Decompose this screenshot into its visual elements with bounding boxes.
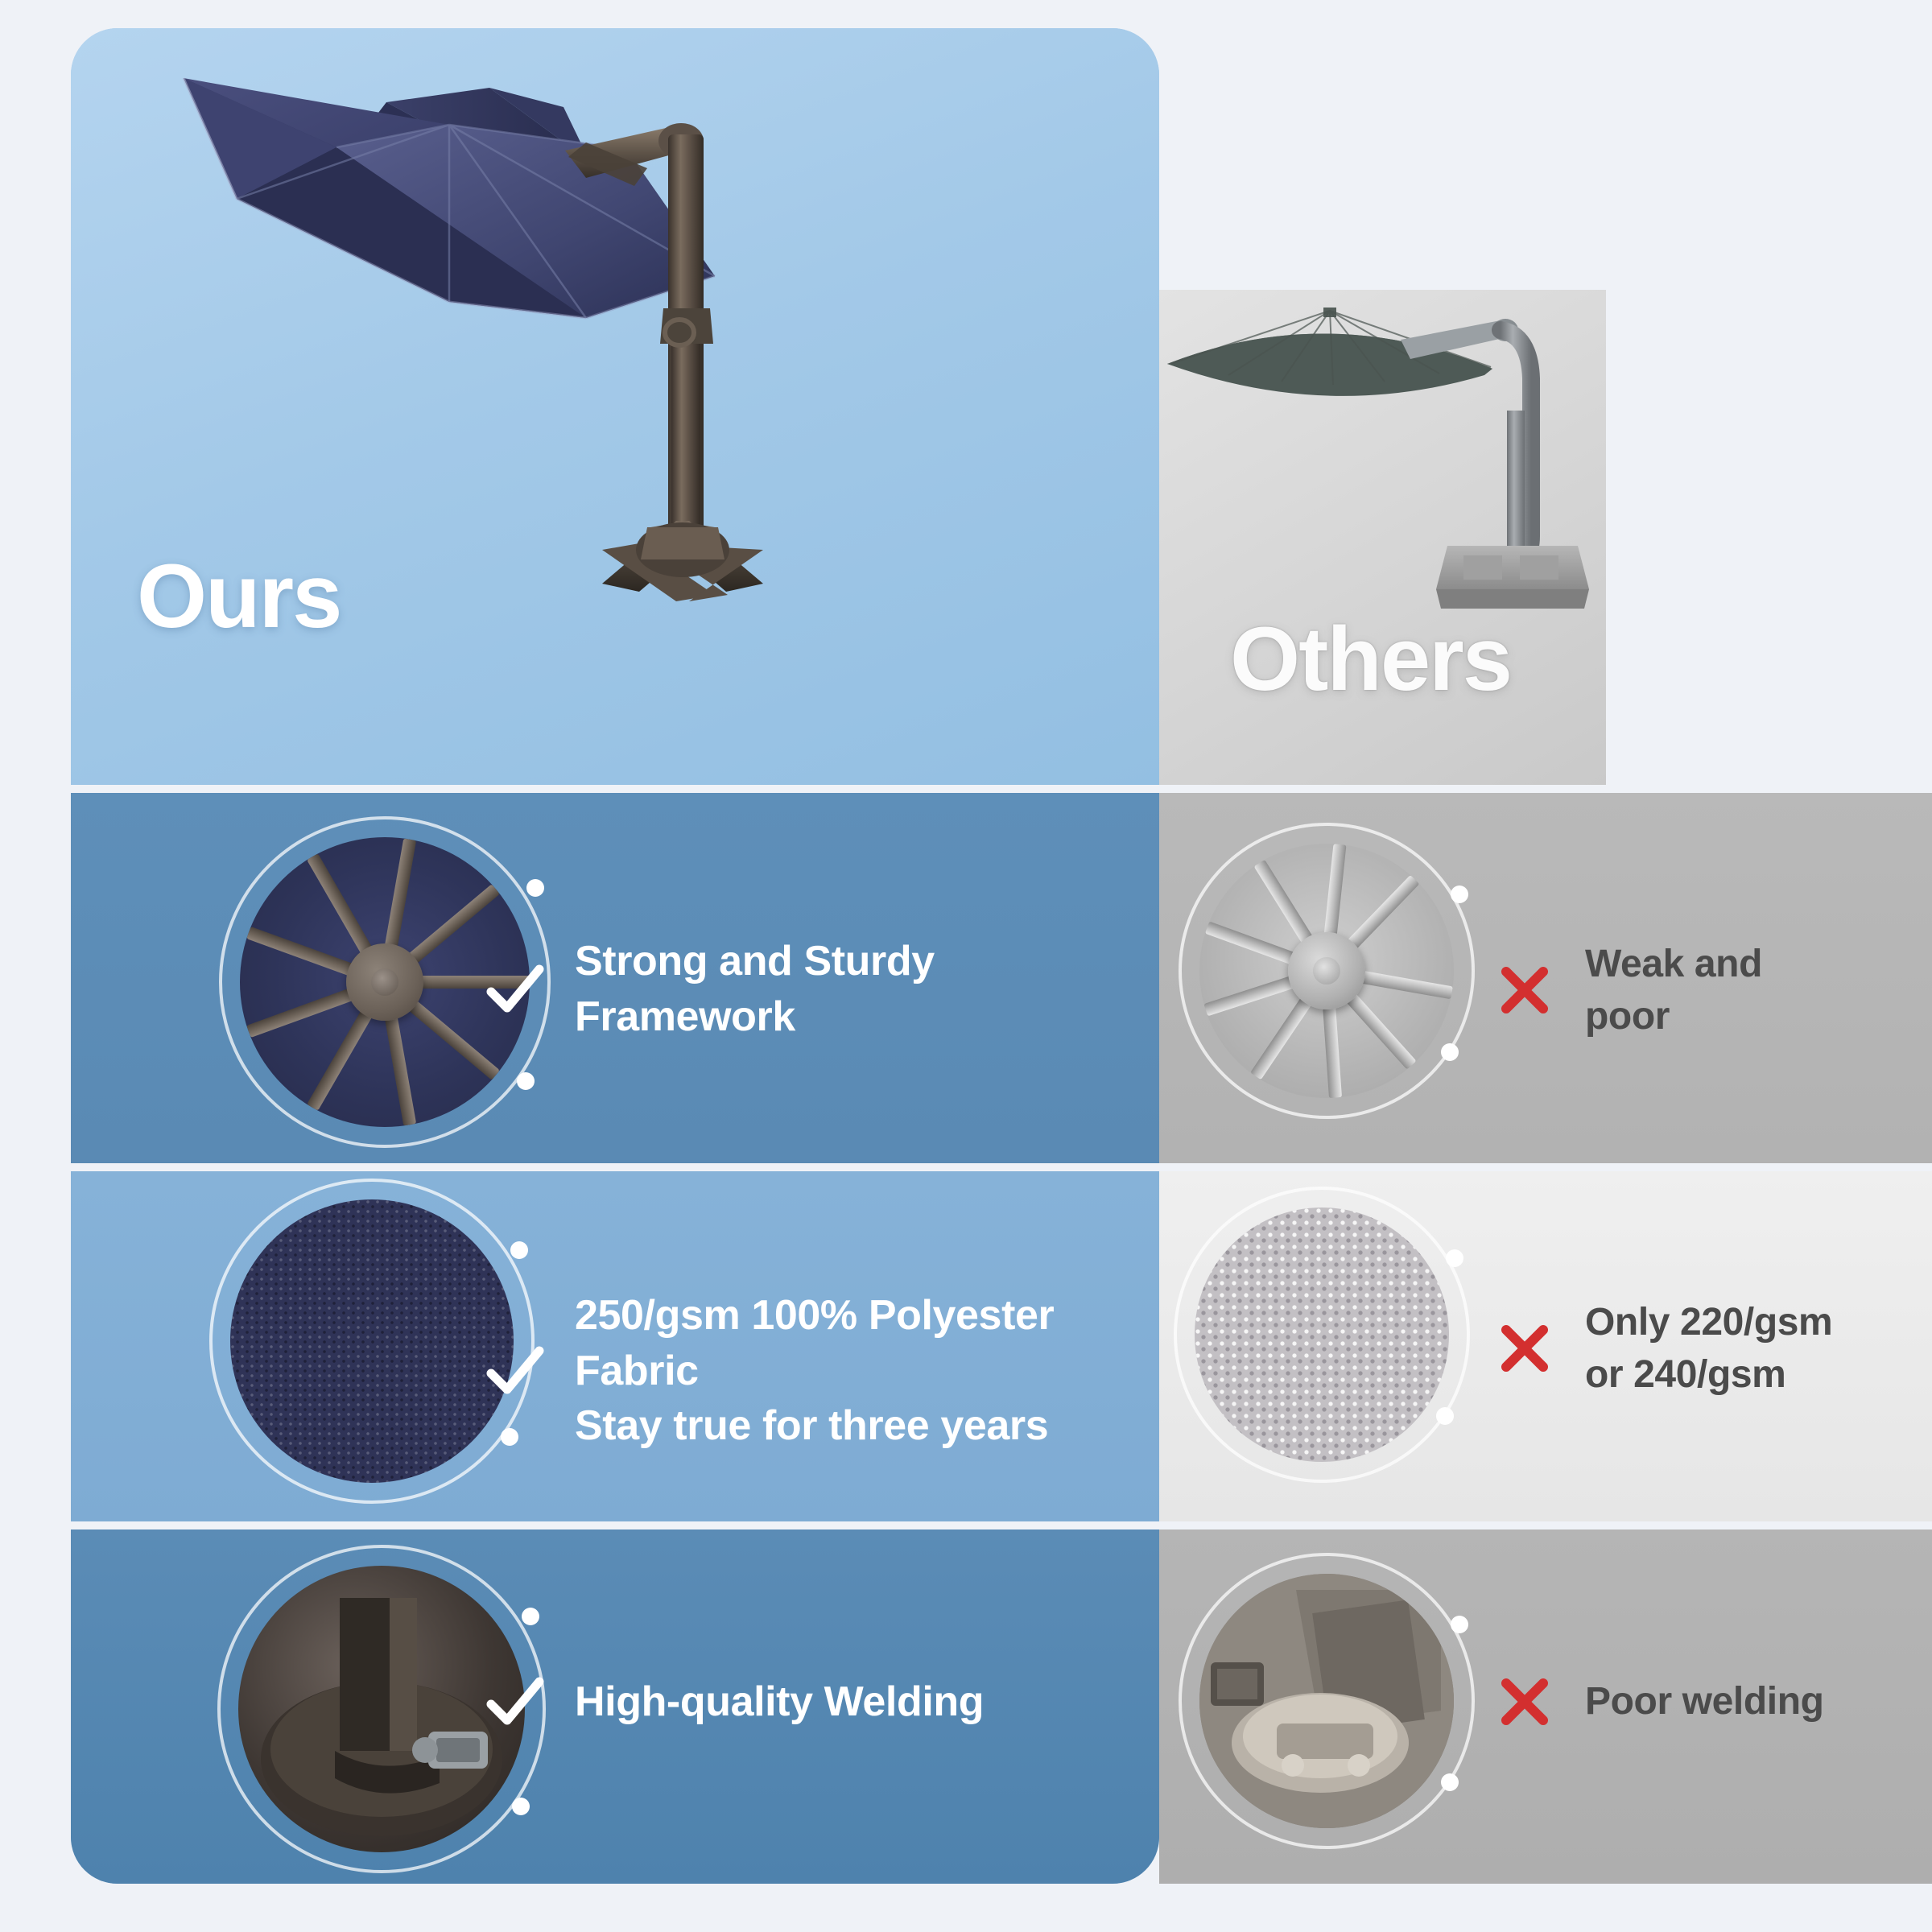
ours-umbrella-image <box>71 28 1159 841</box>
others-label: Others <box>1230 614 1511 704</box>
others-feature-1: Weak and poor <box>1493 938 1762 1043</box>
check-icon <box>483 1670 546 1733</box>
others-umbrella-image <box>1159 290 1606 785</box>
others-inset-framework <box>1199 844 1454 1098</box>
inset-dot <box>1436 1407 1454 1425</box>
inset-ring <box>1174 1187 1470 1483</box>
others-feature-2: Only 220/gsm or 240/gsm <box>1493 1296 1832 1402</box>
inset-dot <box>512 1798 530 1815</box>
feature-line: Poor welding <box>1585 1675 1824 1728</box>
feature-line: 250/gsm 100% Polyester <box>575 1288 1054 1344</box>
cross-icon <box>1493 959 1556 1022</box>
others-feature-3-text: Poor welding <box>1585 1675 1824 1728</box>
feature-line: Stay true for three years <box>575 1398 1054 1454</box>
others-feature-1-text: Weak and poor <box>1585 938 1762 1043</box>
ours-label: Ours <box>137 551 341 642</box>
feature-line: Strong and Sturdy <box>575 934 935 989</box>
ours-feature-1: Strong and Sturdy Framework <box>483 934 935 1044</box>
ours-feature-2: 250/gsm 100% Polyester Fabric Stay true … <box>483 1288 1054 1454</box>
feature-line: Weak and <box>1585 938 1762 990</box>
others-inset-fabric <box>1195 1207 1449 1462</box>
inset-ring <box>1179 1553 1475 1849</box>
inset-dot <box>517 1072 535 1090</box>
inset-dot <box>1441 1773 1459 1791</box>
ours-feature-3: High-quality Welding <box>483 1670 984 1733</box>
feature-line: Framework <box>575 989 935 1045</box>
ours-feature-2-text: 250/gsm 100% Polyester Fabric Stay true … <box>575 1288 1054 1454</box>
feature-line: or 240/gsm <box>1585 1348 1832 1401</box>
feature-line: Only 220/gsm <box>1585 1296 1832 1348</box>
ours-inset-welding <box>238 1566 525 1852</box>
inset-dot <box>1441 1043 1459 1061</box>
inset-dot <box>522 1608 539 1625</box>
ours-feature-3-text: High-quality Welding <box>575 1674 984 1730</box>
inset-dot <box>526 879 544 897</box>
cross-icon <box>1493 1317 1556 1380</box>
feature-line: poor <box>1585 990 1762 1042</box>
inset-dot <box>510 1241 528 1259</box>
check-icon <box>483 1340 546 1402</box>
check-icon <box>483 958 546 1021</box>
inset-dot <box>1451 885 1468 903</box>
ours-feature-1-text: Strong and Sturdy Framework <box>575 934 935 1044</box>
feature-line: Fabric <box>575 1344 1054 1399</box>
others-feature-3: Poor welding <box>1493 1670 1824 1733</box>
ours-inset-fabric <box>230 1199 514 1483</box>
others-feature-2-text: Only 220/gsm or 240/gsm <box>1585 1296 1832 1402</box>
inset-ring <box>1179 823 1475 1119</box>
inset-dot <box>1451 1616 1468 1633</box>
cross-icon <box>1493 1670 1556 1733</box>
others-inset-welding <box>1199 1574 1454 1828</box>
inset-dot <box>1446 1249 1463 1267</box>
feature-line: High-quality Welding <box>575 1674 984 1730</box>
